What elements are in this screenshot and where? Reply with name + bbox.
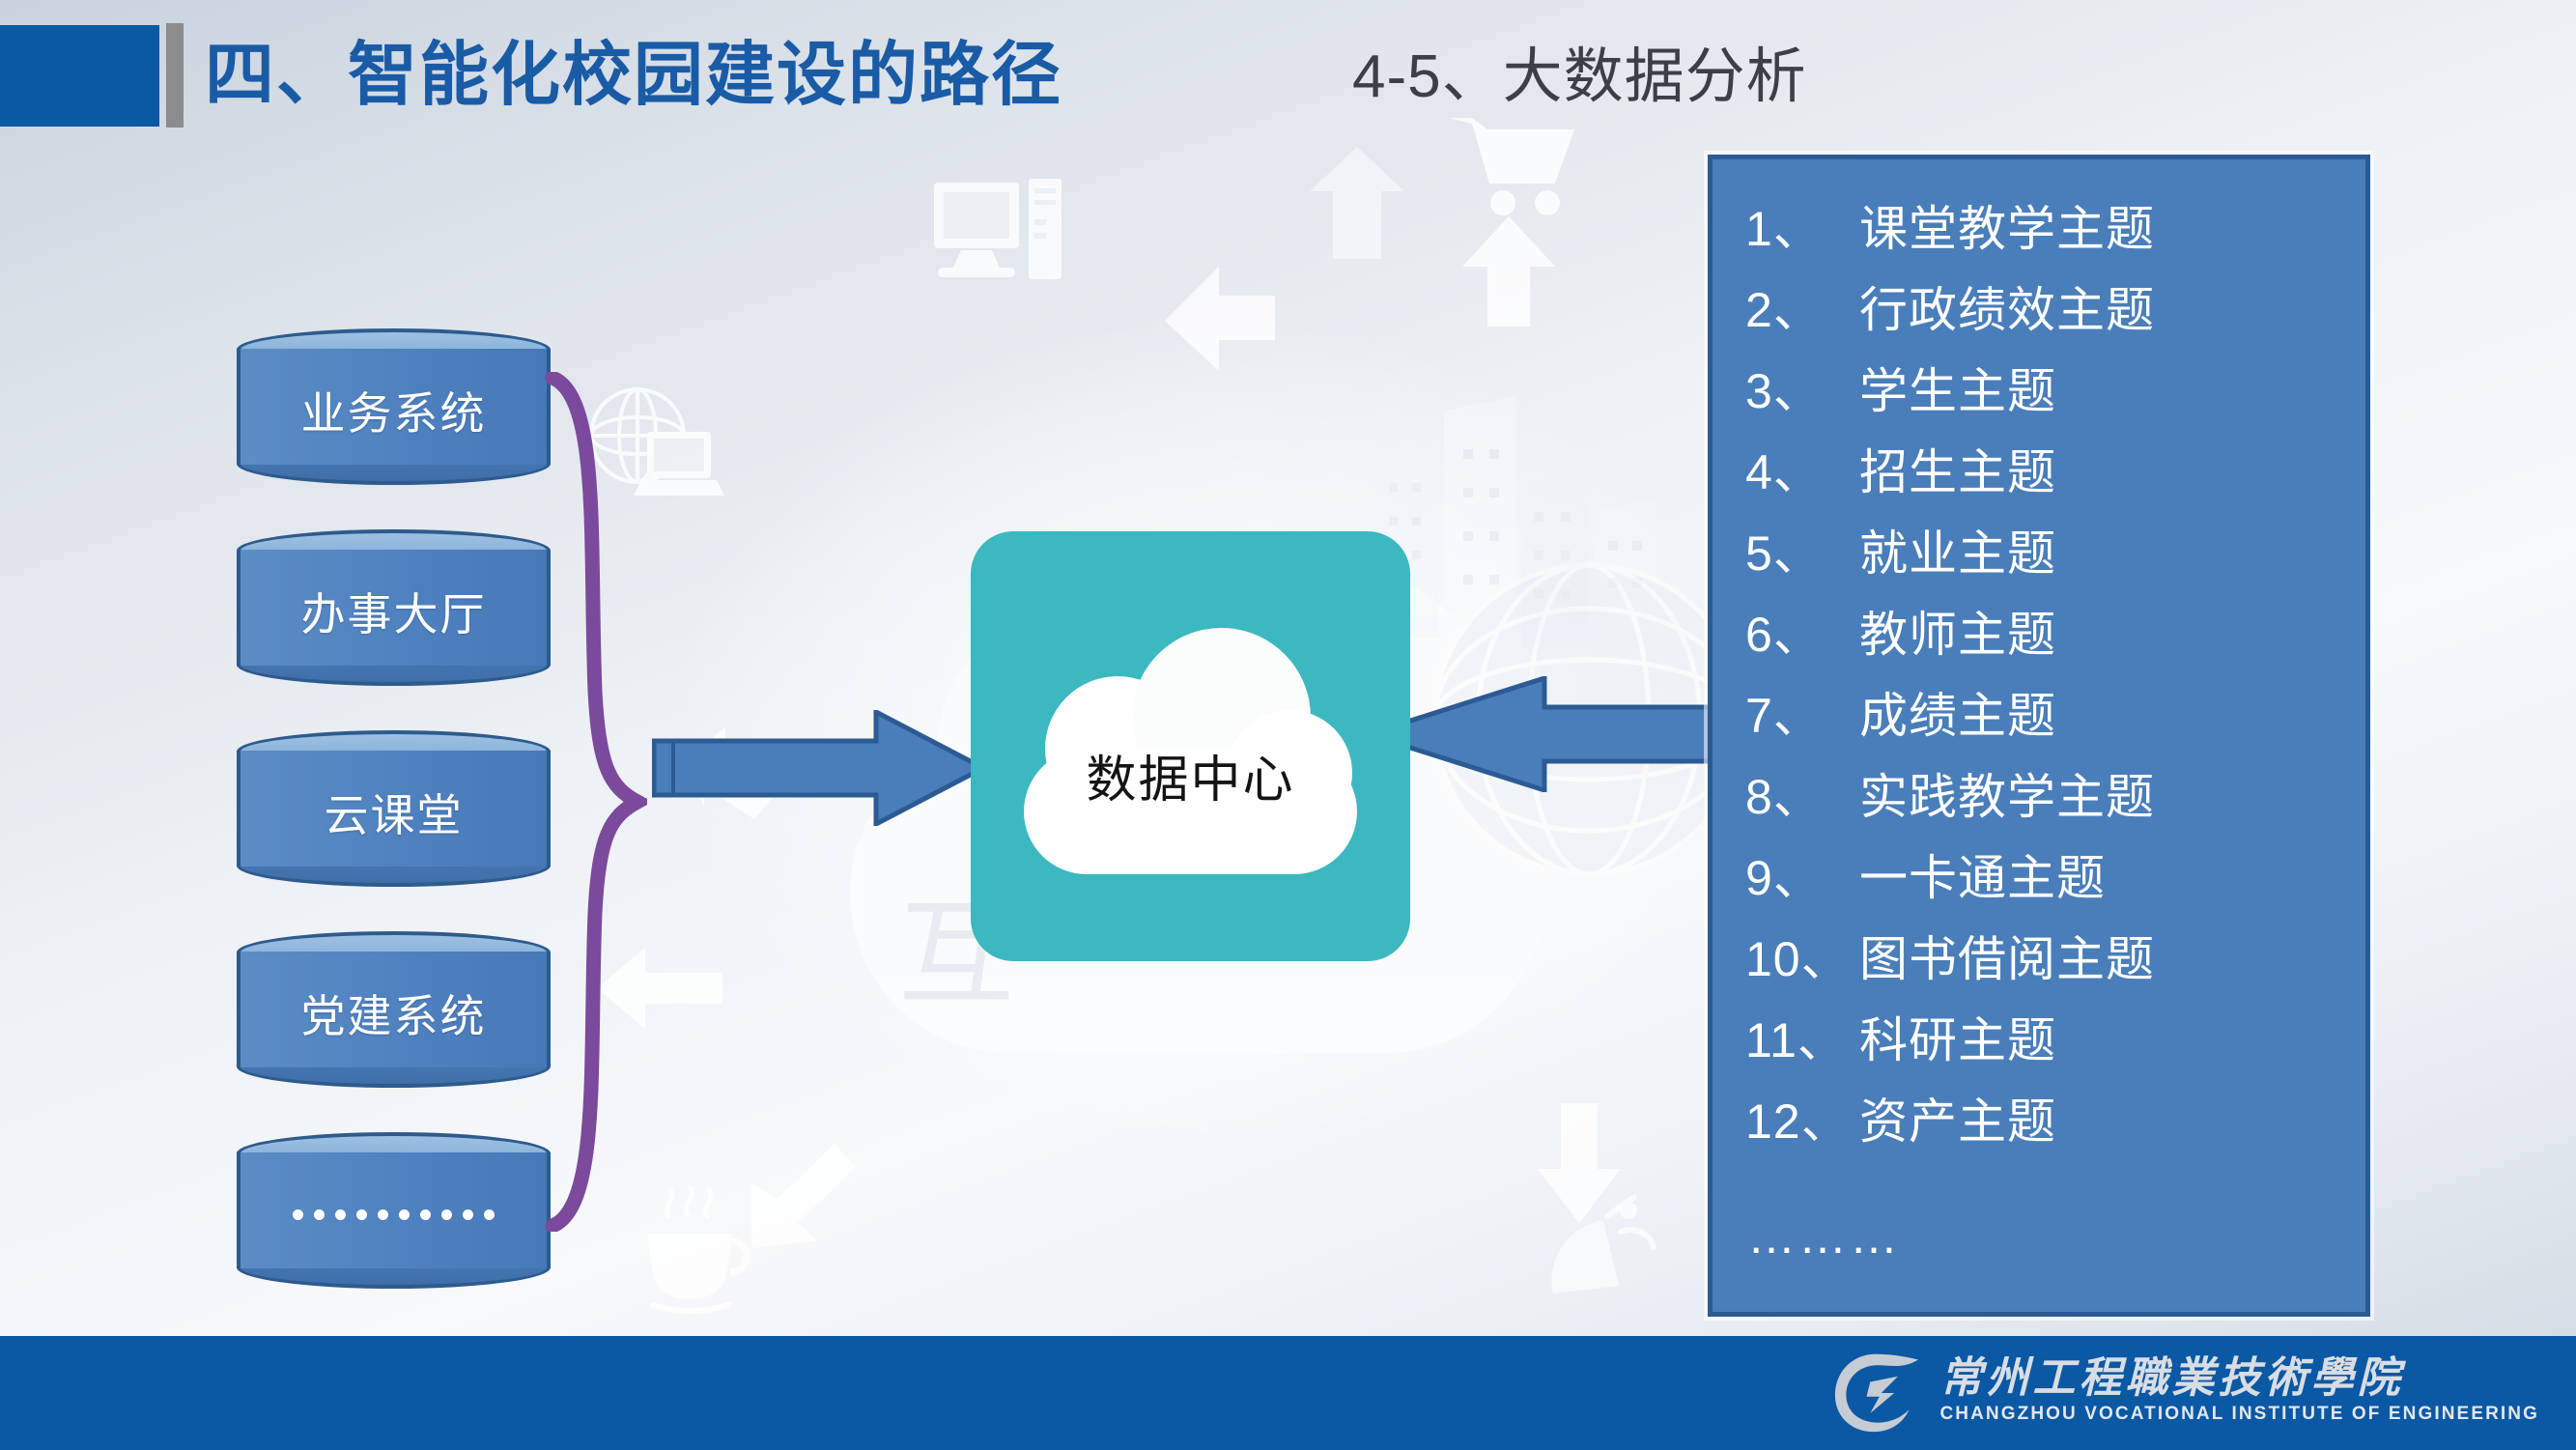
slide-root: 互 xyxy=(0,0,2576,1450)
source-cylinder-more[interactable] xyxy=(237,1132,551,1289)
page-subtitle: 4-5、大数据分析 xyxy=(1352,27,1807,114)
institution-logo: 常州工程職業技術學院 CHANGZHOU VOCATIONAL INSTITUT… xyxy=(1829,1346,2539,1438)
header-accent-bar xyxy=(166,23,184,128)
topic-number: 6、 xyxy=(1745,594,1859,675)
cylinder-ellipsis-dots xyxy=(237,1161,551,1267)
school-emblem-icon xyxy=(1829,1349,1922,1436)
topic-label: 实践教学主题 xyxy=(1859,770,2155,824)
topics-ellipsis: ……… xyxy=(1713,1162,2365,1265)
satellite-dish-icon xyxy=(1536,1193,1666,1314)
page-title: 四、智能化校园建设的路径 xyxy=(205,17,1062,119)
list-item[interactable]: 7、成绩主题 xyxy=(1745,675,2365,756)
arrow-diagonal-down-left-icon xyxy=(744,1140,860,1256)
topics-list: 1、课堂教学主题 2、行政绩效主题 3、学生主题 4、招生主题 5、就业主题 6… xyxy=(1713,159,2365,1162)
list-item[interactable]: 6、教师主题 xyxy=(1745,594,2365,675)
logo-chinese-name: 常州工程職業技術學院 xyxy=(1939,1356,2539,1401)
header-accent-block xyxy=(0,25,159,127)
coffee-cup-icon xyxy=(637,1183,753,1314)
topic-number: 10、 xyxy=(1745,919,1859,1000)
list-item[interactable]: 3、学生主题 xyxy=(1745,351,2365,432)
arrow-right-icon xyxy=(652,710,985,826)
topic-label: 教师主题 xyxy=(1859,608,2056,662)
logo-english-name: CHANGZHOU VOCATIONAL INSTITUTE OF ENGINE… xyxy=(1939,1401,2539,1429)
topic-number: 2、 xyxy=(1745,270,1859,351)
topics-panel: 1、课堂教学主题 2、行政绩效主题 3、学生主题 4、招生主题 5、就业主题 6… xyxy=(1708,155,2370,1317)
arrow-left-icon xyxy=(1365,676,1732,792)
topic-number: 8、 xyxy=(1745,756,1859,838)
data-center-card[interactable]: 数据中心 xyxy=(971,531,1410,961)
topic-number: 7、 xyxy=(1745,675,1859,756)
curly-brace-icon xyxy=(541,372,647,1232)
list-item[interactable]: 1、课堂教学主题 xyxy=(1745,188,2365,270)
source-cylinder-service-hall[interactable]: 办事大厅 xyxy=(237,529,551,686)
topic-label: 行政绩效主题 xyxy=(1859,283,2155,337)
topic-label: 资产主题 xyxy=(1859,1095,2056,1149)
arrow-down-icon xyxy=(1536,1101,1623,1227)
cylinder-label: 办事大厅 xyxy=(237,558,551,665)
cylinder-label: 党建系统 xyxy=(237,960,551,1066)
list-item[interactable]: 5、就业主题 xyxy=(1745,513,2365,594)
topic-label: 学生主题 xyxy=(1859,364,2056,418)
topic-label: 就业主题 xyxy=(1859,526,2056,581)
arrow-up-icon xyxy=(1460,214,1557,328)
list-item[interactable]: 12、资产主题 xyxy=(1745,1081,2365,1162)
cylinder-label: 业务系统 xyxy=(237,357,551,464)
topic-number: 12、 xyxy=(1745,1081,1859,1162)
source-cylinder-business-system[interactable]: 业务系统 xyxy=(237,328,551,485)
source-cylinder-party-building[interactable]: 党建系统 xyxy=(237,931,551,1088)
topic-label: 科研主题 xyxy=(1859,1013,2056,1067)
topic-label: 一卡通主题 xyxy=(1859,851,2106,905)
data-center-label: 数据中心 xyxy=(971,739,1410,811)
desktop-computer-icon xyxy=(932,179,1072,290)
topic-number: 9、 xyxy=(1745,838,1859,919)
topic-label: 图书借阅主题 xyxy=(1859,932,2155,986)
list-item[interactable]: 9、一卡通主题 xyxy=(1745,838,2365,919)
topic-number: 11、 xyxy=(1745,1000,1859,1081)
list-item[interactable]: 8、实践教学主题 xyxy=(1745,756,2365,838)
list-item[interactable]: 10、图书借阅主题 xyxy=(1745,919,2365,1000)
topic-label: 成绩主题 xyxy=(1859,689,2056,743)
source-cylinder-cloud-classroom[interactable]: 云课堂 xyxy=(237,730,551,887)
topic-number: 3、 xyxy=(1745,351,1859,432)
list-item[interactable]: 4、招生主题 xyxy=(1745,432,2365,513)
topic-label: 招生主题 xyxy=(1859,445,2056,499)
footer-bar: 常州工程職業技術學院 CHANGZHOU VOCATIONAL INSTITUT… xyxy=(0,1336,2576,1450)
list-item[interactable]: 11、科研主题 xyxy=(1745,1000,2365,1081)
arrow-diagonal-up-left-icon xyxy=(1159,263,1289,388)
logo-text-block: 常州工程職業技術學院 CHANGZHOU VOCATIONAL INSTITUT… xyxy=(1939,1356,2539,1429)
topic-number: 1、 xyxy=(1745,188,1859,270)
list-item[interactable]: 2、行政绩效主题 xyxy=(1745,270,2365,351)
arrow-up-right-icon xyxy=(1304,145,1410,261)
topic-number: 4、 xyxy=(1745,432,1859,513)
shopping-cart-icon xyxy=(1447,114,1587,225)
cylinder-label: 云课堂 xyxy=(237,759,551,866)
topic-label: 课堂教学主题 xyxy=(1859,202,2155,256)
topic-number: 5、 xyxy=(1745,513,1859,594)
